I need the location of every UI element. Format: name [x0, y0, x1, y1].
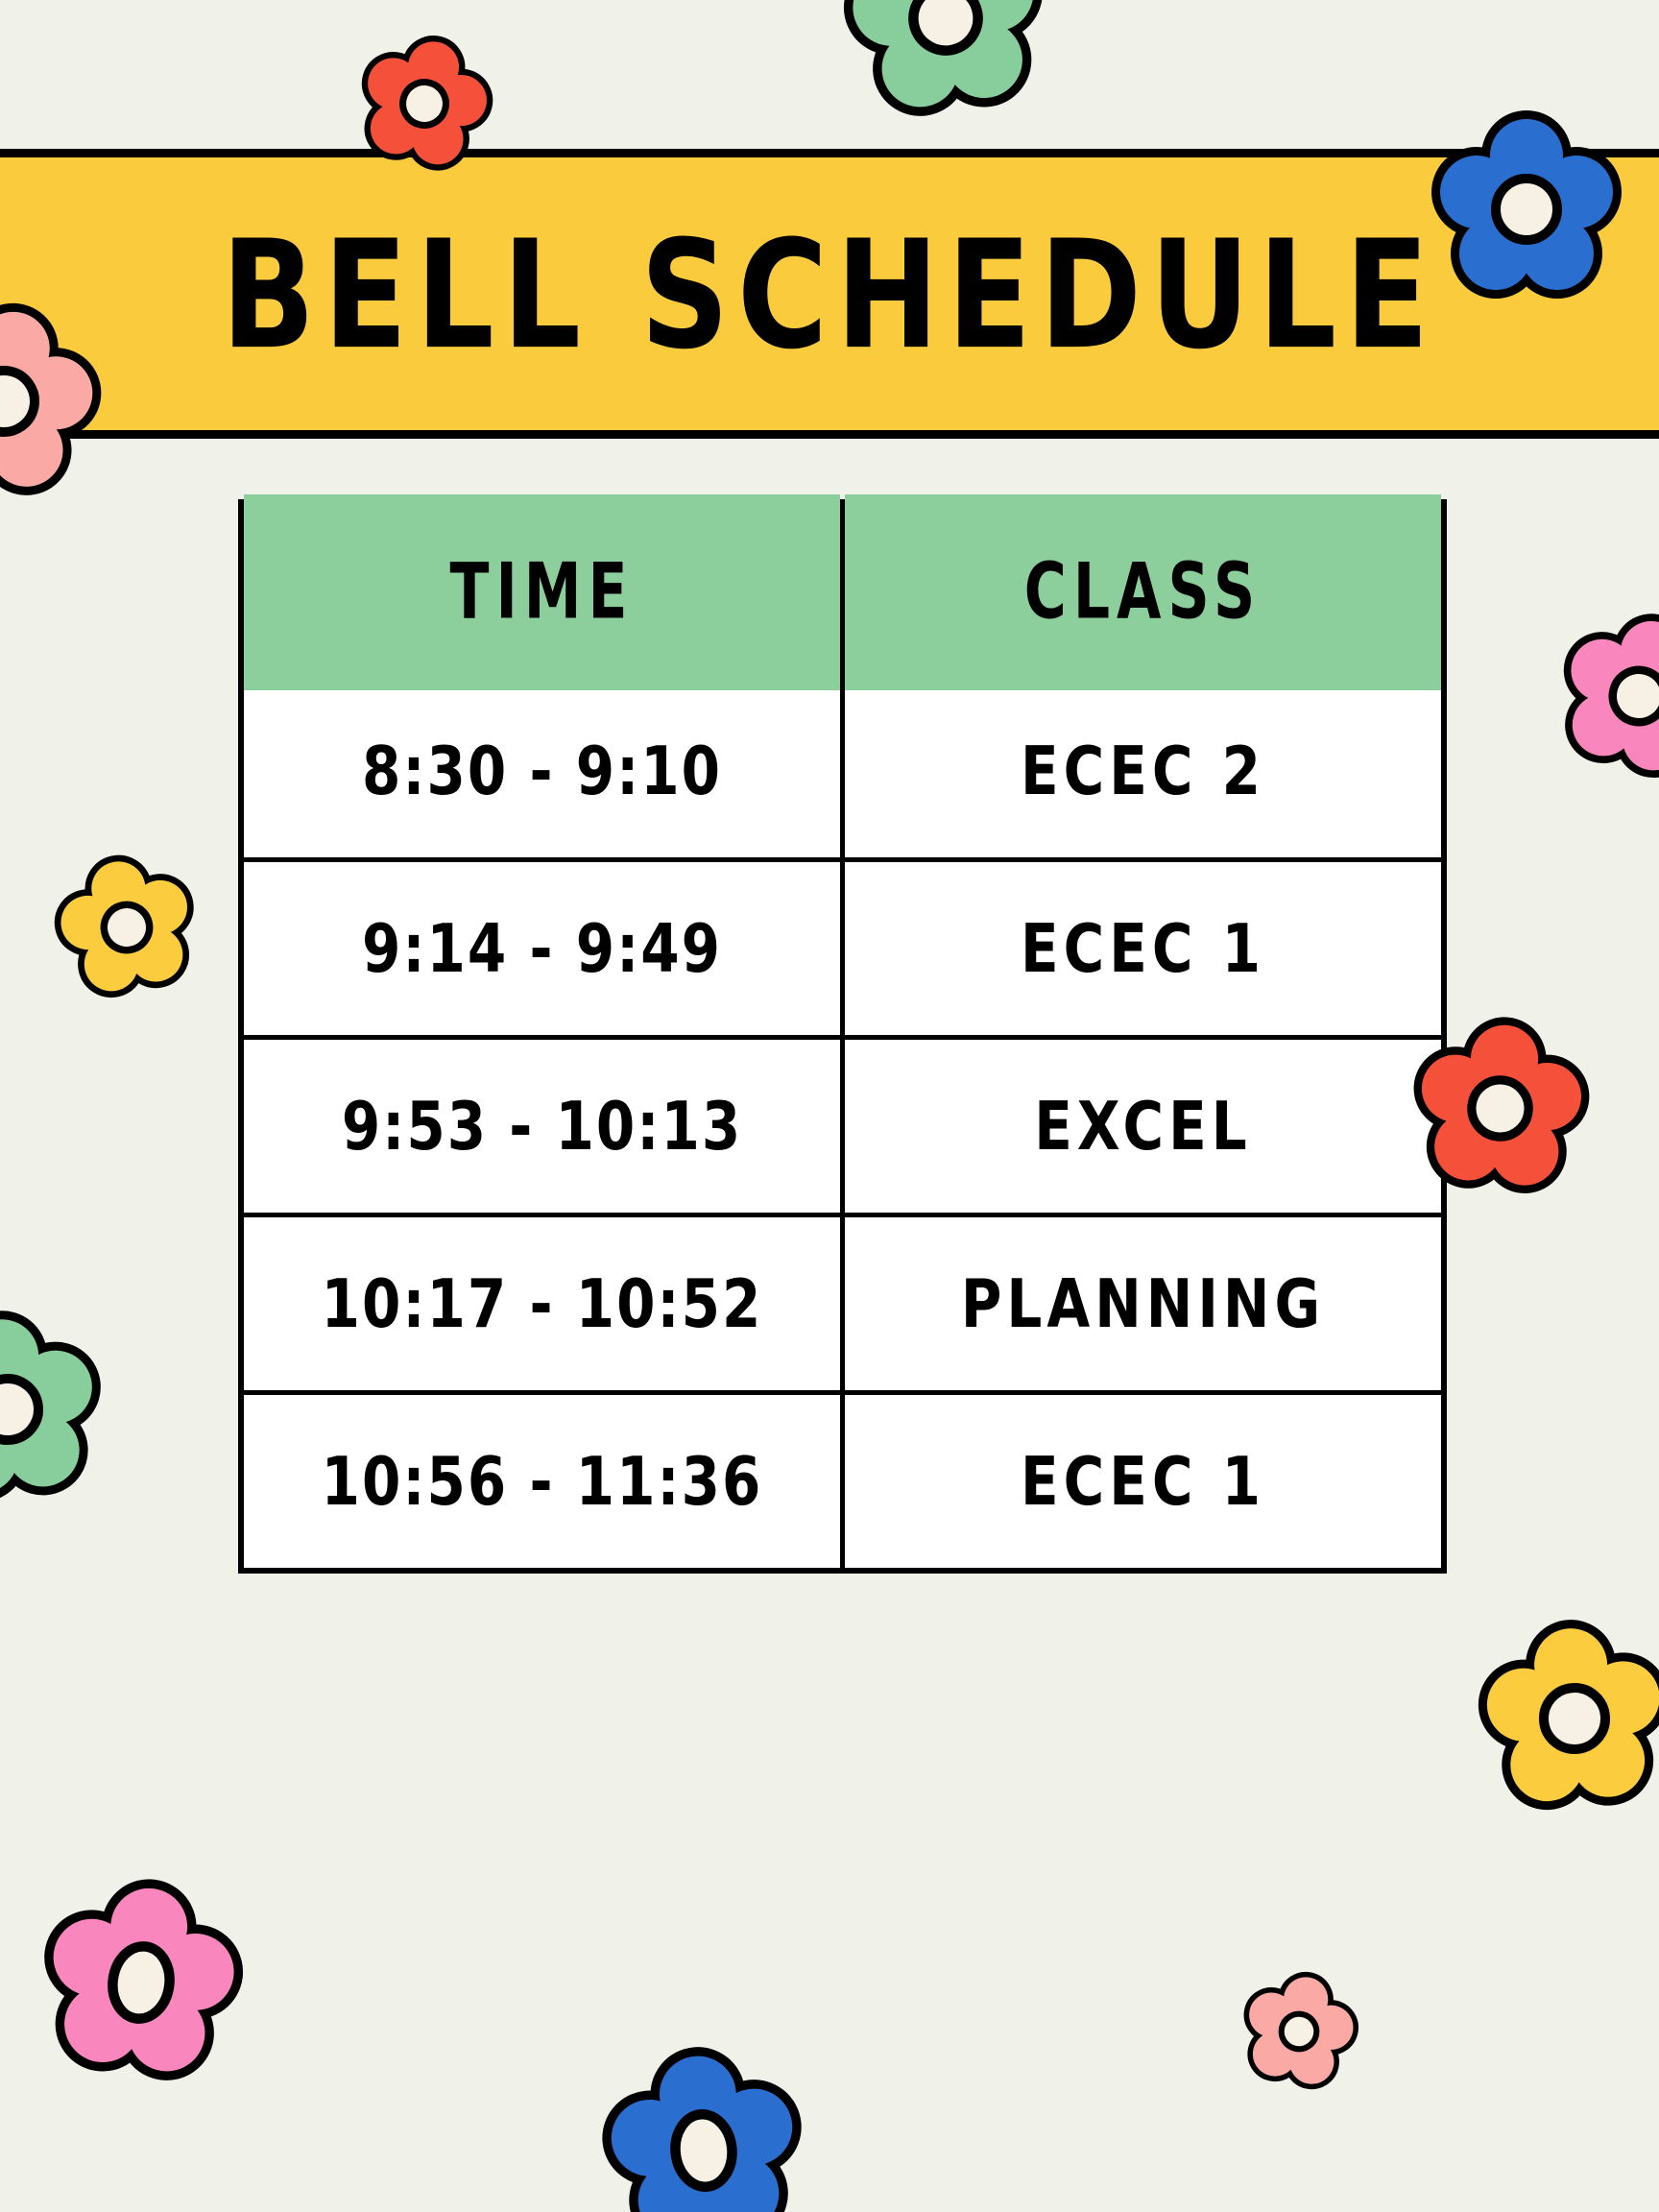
flower-pink-right-upper-icon	[1557, 614, 1659, 778]
table-header: TIME CLASS	[244, 505, 1441, 683]
cell-time: 10:56 - 11:36	[244, 1393, 843, 1569]
cell-time: 10:17 - 10:52	[244, 1215, 843, 1393]
cell-time: 9:14 - 9:49	[244, 860, 843, 1038]
table-body: 8:30 - 9:10 ECEC 2 9:14 - 9:49 ECEC 1 9:…	[244, 683, 1441, 1569]
flower-red-right-middle-icon	[1411, 1020, 1589, 1197]
flower-green-left-lower-icon	[0, 1313, 104, 1505]
column-header-class: CLASS	[843, 494, 1442, 693]
flower-salmon-left-upper-icon	[0, 305, 100, 497]
column-header-time: TIME	[244, 494, 843, 693]
title-banner: BELL SCHEDULE	[0, 149, 1659, 439]
table-row: 10:17 - 10:52 PLANNING	[244, 1215, 1441, 1393]
cell-class: EXCEL	[843, 1038, 1442, 1215]
table-row: 10:56 - 11:36 ECEC 1	[244, 1393, 1441, 1569]
table-row: 8:30 - 9:10 ECEC 2	[244, 683, 1441, 860]
table-row: 9:14 - 9:49 ECEC 1	[244, 860, 1441, 1038]
table-header-row: TIME CLASS	[244, 505, 1441, 683]
flower-yellow-right-lower-icon	[1479, 1623, 1659, 1815]
page-title: BELL SCHEDULE	[222, 221, 1437, 371]
bell-schedule-table: TIME CLASS 8:30 - 9:10 ECEC 2 9:14 - 9:4…	[244, 505, 1441, 1568]
flower-yellow-left-icon	[56, 856, 198, 998]
table-row: 9:53 - 10:13 EXCEL	[244, 1038, 1441, 1215]
schedule-table-container: TIME CLASS 8:30 - 9:10 ECEC 2 9:14 - 9:4…	[238, 499, 1447, 1574]
cell-class: ECEC 1	[843, 1393, 1442, 1569]
flower-pink-bottom-left-icon	[40, 1882, 242, 2083]
cell-time: 8:30 - 9:10	[244, 683, 843, 860]
flower-blue-top-right-icon	[1431, 113, 1623, 305]
flower-green-top-center-icon	[845, 0, 1046, 119]
flower-salmon-bottom-right-icon	[1240, 1973, 1358, 2090]
poster-canvas: BELL SCHEDULE	[0, 0, 1659, 2212]
cell-class: ECEC 2	[843, 683, 1442, 860]
cell-time: 9:53 - 10:13	[244, 1038, 843, 1215]
flower-red-top-left-icon	[357, 36, 492, 171]
flower-blue-bottom-icon	[603, 2050, 805, 2212]
cell-class: ECEC 1	[843, 860, 1442, 1038]
cell-class: PLANNING	[843, 1215, 1442, 1393]
